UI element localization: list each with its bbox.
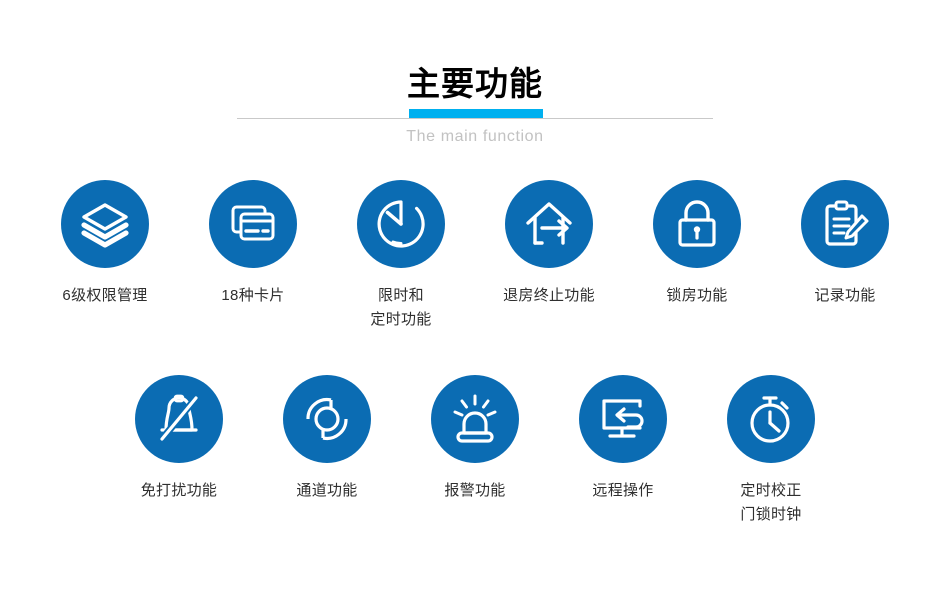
timer-icon [374,197,428,251]
feature-label: 记录功能 [814,284,875,308]
feature-label: 退房终止功能 [503,284,595,308]
cards-icon [227,198,279,250]
stopwatch-icon [744,392,798,446]
icon-circle [431,375,519,463]
icon-circle [61,180,149,268]
feature-label: 锁房功能 [666,284,727,308]
icon-circle [209,180,297,268]
icon-circle [801,180,889,268]
bell-slash-icon [153,392,205,446]
alarm-siren-icon [448,392,502,446]
feature-label: 18种卡片 [221,284,284,308]
feature-item-alarm[interactable]: 报警功能 [401,375,549,503]
feature-label: 通道功能 [296,479,357,503]
feature-label: 免打扰功能 [141,479,218,503]
icon-circle [579,375,667,463]
feature-item-card-types[interactable]: 18种卡片 [179,180,327,308]
passage-icon [301,393,353,445]
feature-item-record[interactable]: 记录功能 [771,180,919,308]
feature-label: 6级权限管理 [62,284,147,308]
icon-circle [505,180,593,268]
feature-item-checkout-terminate[interactable]: 退房终止功能 [475,180,623,308]
clipboard-pencil-icon [819,197,871,251]
feature-item-room-lock[interactable]: 锁房功能 [623,180,771,308]
header-divider-rule [237,118,713,119]
page-title: 主要功能 [0,64,950,104]
feature-item-timed-function[interactable]: 限时和 定时功能 [327,180,475,332]
layers-icon [79,198,131,250]
header-accent-bar [409,109,543,118]
icon-circle [653,180,741,268]
feature-label: 定时校正 门锁时钟 [740,479,801,527]
icon-circle [357,180,445,268]
icon-circle [283,375,371,463]
feature-label: 远程操作 [592,479,653,503]
icon-circle [135,375,223,463]
feature-label: 报警功能 [444,479,505,503]
feature-row-1: 6级权限管理 18种卡片 [0,180,950,332]
padlock-icon [672,198,722,250]
feature-item-clock-sync[interactable]: 定时校正 门锁时钟 [697,375,845,527]
feature-item-passage[interactable]: 通道功能 [253,375,401,503]
feature-row-2: 免打扰功能 通道功能 [0,375,950,527]
feature-item-remote-operation[interactable]: 远程操作 [549,375,697,503]
page-subtitle: The main function [0,126,950,148]
feature-label: 限时和 定时功能 [370,284,431,332]
page-header: 主要功能 The main function [0,0,950,160]
feature-item-permission-levels[interactable]: 6级权限管理 [31,180,179,308]
icon-circle [727,375,815,463]
feature-item-do-not-disturb[interactable]: 免打扰功能 [105,375,253,503]
house-exit-icon [522,197,576,251]
remote-monitor-icon [596,393,650,445]
